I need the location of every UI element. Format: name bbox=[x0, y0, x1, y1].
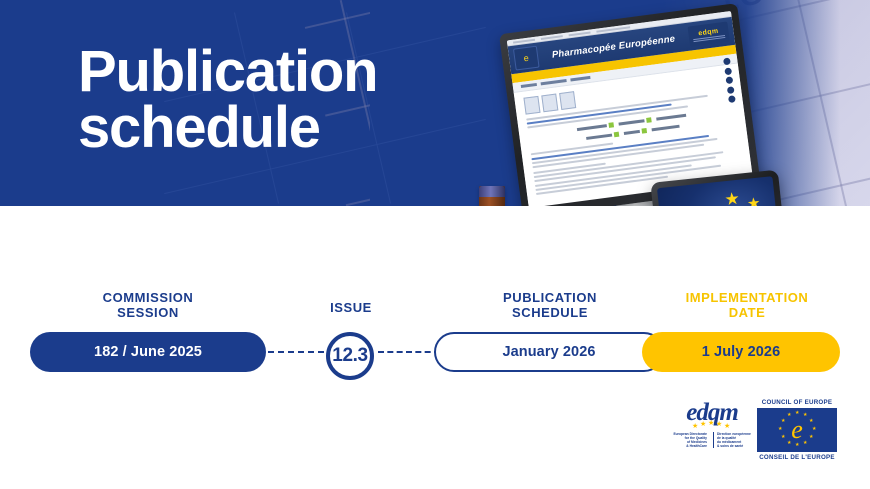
edqm-subtitle: European Directorate for the Quality of … bbox=[666, 432, 758, 448]
page-title: Publication schedule bbox=[78, 44, 498, 156]
edqm-subtitle-en-4: & HealthCare bbox=[686, 444, 707, 448]
vial-amber-large bbox=[479, 186, 505, 206]
label-line-1: COMMISSION bbox=[103, 290, 194, 305]
edqm-subtitle-fr-4: & soins de santé bbox=[717, 444, 743, 448]
coe-emblem-icon: e bbox=[513, 46, 540, 71]
timeline-pill-implementation-date[interactable]: 1 July 2026 bbox=[642, 332, 840, 372]
edqm-logo: edqm ★ ★ ★ ★ ★ European Directorate for … bbox=[666, 400, 758, 458]
timeline-label-commission-session: COMMISSION SESSION bbox=[52, 290, 244, 320]
coe-flag: e ★ ★ ★ ★ ★ ★ ★ ★ ★ ★ ★ ★ bbox=[757, 408, 837, 452]
hero-banner: 7 14 15 20 Publication schedule bbox=[0, 0, 870, 206]
star-icon: ★ bbox=[724, 190, 741, 206]
publication-schedule-infographic: 7 14 15 20 Publication schedule bbox=[0, 0, 870, 489]
footer-logos: edqm ★ ★ ★ ★ ★ European Directorate for … bbox=[0, 386, 870, 489]
label-line-1: IMPLEMENTATION bbox=[686, 290, 809, 305]
timeline-track: 182 / June 2025 12.3 January 2026 1 July… bbox=[0, 332, 870, 372]
device-illustration: e Pharmacopée Européenne edqm bbox=[455, 8, 870, 206]
publication-timeline: COMMISSION SESSION ISSUE PUBLICATION SCH… bbox=[0, 206, 870, 386]
edqm-stars: ★ ★ ★ ★ ★ bbox=[666, 423, 758, 430]
edqm-logo-icon: edqm bbox=[688, 22, 730, 47]
star-icon: ★ bbox=[746, 196, 761, 206]
label-line-1: PUBLICATION bbox=[503, 290, 597, 305]
coe-caption-top: COUNCIL OF EUROPE bbox=[757, 398, 837, 407]
timeline-pill-publication-schedule[interactable]: January 2026 bbox=[434, 332, 664, 372]
timeline-connector-dashed bbox=[378, 351, 440, 353]
coe-caption-bottom: CONSEIL DE L'EUROPE bbox=[757, 453, 837, 462]
label-line-1: ISSUE bbox=[330, 300, 372, 315]
coe-star-ring: ★ ★ ★ ★ ★ ★ ★ ★ ★ ★ ★ ★ bbox=[779, 412, 815, 448]
timeline-pill-commission-session[interactable]: 182 / June 2025 bbox=[30, 332, 266, 372]
page-title-line-2: schedule bbox=[78, 100, 498, 156]
timeline-label-publication-schedule: PUBLICATION SCHEDULE bbox=[452, 290, 648, 320]
label-line-2: DATE bbox=[729, 305, 766, 320]
timeline-issue-circle[interactable]: 12.3 bbox=[326, 332, 374, 380]
vial-cap bbox=[479, 186, 505, 197]
timeline-connector-dashed bbox=[258, 351, 324, 353]
label-line-2: SESSION bbox=[117, 305, 179, 320]
timeline-label-issue: ISSUE bbox=[300, 300, 402, 315]
timeline-label-implementation-date: IMPLEMENTATION DATE bbox=[648, 290, 846, 320]
tablet-screen: Pharmacopée Européenne ★ ★ ★ edqm e bbox=[657, 176, 781, 206]
council-of-europe-logo: COUNCIL OF EUROPE e ★ ★ ★ ★ ★ ★ ★ ★ ★ ★ … bbox=[757, 398, 837, 460]
label-line-2: SCHEDULE bbox=[512, 305, 588, 320]
